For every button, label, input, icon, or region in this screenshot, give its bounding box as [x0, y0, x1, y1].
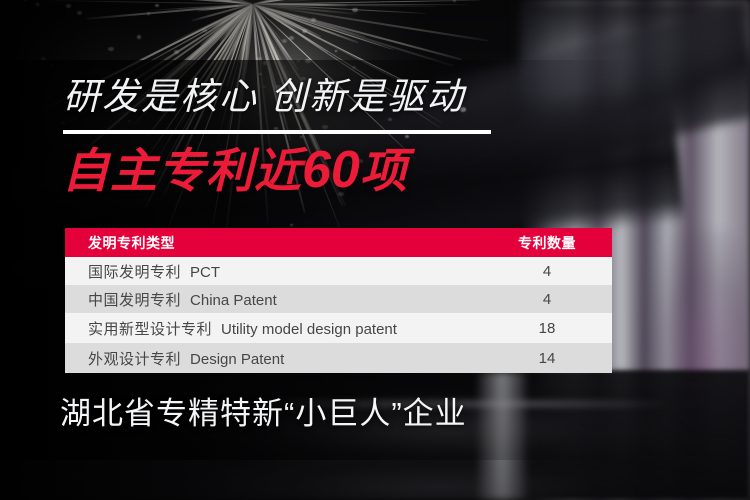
table-row: 外观设计专利Design Patent14	[65, 343, 612, 373]
cell-patent-type: 国际发明专利PCT	[65, 257, 482, 285]
table-row: 实用新型设计专利Utility model design patent18	[65, 313, 612, 343]
cell-patent-count: 18	[482, 313, 612, 343]
patent-type-english: PCT	[190, 264, 220, 281]
banner-content: 研发是核心 创新是驱动 自主专利近60项 发明专利类型 专利数量 国际发明专利P…	[0, 0, 750, 500]
patent-table-body: 国际发明专利PCT4中国发明专利China Patent4实用新型设计专利Uti…	[65, 257, 612, 373]
headline-divider-rule	[63, 130, 491, 134]
patent-type-chinese: 实用新型设计专利	[88, 321, 212, 338]
footer-caption: 湖北省专精特新“小巨人”企业	[60, 398, 467, 429]
patent-count-number: 60	[302, 141, 360, 199]
patent-banner: 研发是核心 创新是驱动 自主专利近60项 发明专利类型 专利数量 国际发明专利P…	[0, 0, 750, 500]
patent-type-chinese: 中国发明专利	[88, 292, 181, 309]
patent-table-head: 发明专利类型 专利数量	[65, 228, 612, 257]
table-header-row: 发明专利类型 专利数量	[65, 228, 612, 257]
cell-patent-type: 外观设计专利Design Patent	[65, 343, 482, 373]
patent-type-english: China Patent	[190, 292, 277, 309]
cell-patent-count: 14	[482, 343, 612, 373]
cell-patent-type: 实用新型设计专利Utility model design patent	[65, 313, 482, 343]
column-header-count: 专利数量	[482, 228, 612, 257]
headline-secondary: 自主专利近60项	[62, 143, 408, 198]
cell-patent-type: 中国发明专利China Patent	[65, 285, 482, 313]
column-header-type: 发明专利类型	[65, 228, 482, 257]
patent-type-chinese: 外观设计专利	[88, 351, 181, 368]
cell-patent-count: 4	[482, 285, 612, 313]
cell-patent-count: 4	[482, 257, 612, 285]
patent-type-english: Utility model design patent	[221, 321, 397, 338]
headline-primary: 研发是核心 创新是驱动	[63, 78, 465, 115]
headline-secondary-prefix: 自主专利近	[62, 144, 302, 197]
patent-type-chinese: 国际发明专利	[88, 264, 181, 281]
table-row: 中国发明专利China Patent4	[65, 285, 612, 313]
patent-table: 发明专利类型 专利数量 国际发明专利PCT4中国发明专利China Patent…	[65, 228, 612, 373]
headline-secondary-suffix: 项	[360, 144, 408, 197]
patent-type-english: Design Patent	[190, 351, 284, 368]
table-row: 国际发明专利PCT4	[65, 257, 612, 285]
